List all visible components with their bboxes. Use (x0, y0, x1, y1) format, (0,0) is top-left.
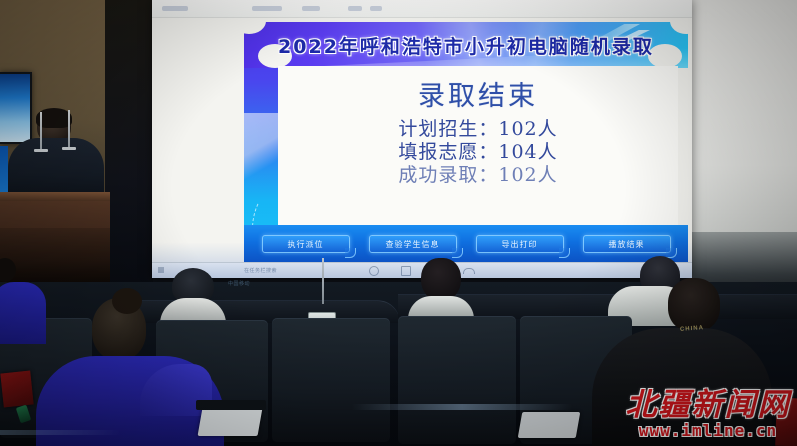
wall-dark-column (105, 0, 153, 300)
stat-value: 102人 (498, 118, 557, 140)
red-book (0, 371, 33, 408)
podium-shadow (0, 228, 110, 284)
slide-content-card: 录取结束 计划招生：102人 填报志愿：104人 成功录取：102人 (278, 66, 678, 226)
export-print-button[interactable]: 导出打印 (476, 235, 564, 253)
slide-heading: 录取结束 (278, 74, 678, 113)
slide-action-bar: 执行派位 查验学生信息 导出打印 播放结果 (244, 225, 688, 263)
table-edge-highlight (352, 404, 572, 410)
projection-screen: 2022年呼和浩特市小升初电脑随机录取 录取结束 计划招生：102人 填报志愿：… (152, 0, 692, 278)
screen-caption-text: 中国移动 (228, 280, 250, 287)
button-corner-tail (452, 248, 463, 258)
red-object-right (775, 398, 797, 446)
search-circle-icon[interactable] (369, 266, 379, 276)
stat-label: 填报志愿： (398, 141, 498, 163)
button-label: 执行派位 (288, 239, 324, 250)
app-toolbar (152, 0, 692, 18)
explorer-icon[interactable] (463, 268, 475, 274)
button-corner-tail (345, 248, 356, 258)
auxiliary-monitor (0, 72, 32, 144)
button-label: 导出打印 (502, 239, 538, 250)
laptop-screen (518, 412, 581, 438)
laptop-screen (198, 408, 263, 436)
stat-value: 104人 (498, 141, 557, 163)
stat-label: 成功录取： (398, 164, 498, 186)
play-results-button[interactable]: 播放结果 (583, 235, 671, 253)
stat-row: 计划招生：102人 (278, 118, 678, 141)
taskview-icon[interactable] (401, 266, 411, 276)
table-edge-highlight (0, 430, 120, 435)
chair-back (398, 316, 516, 444)
button-label: 查验学生信息 (386, 239, 440, 250)
speaker-body (8, 138, 104, 200)
execute-allocation-button[interactable]: 执行派位 (262, 235, 350, 253)
start-button-icon[interactable] (158, 267, 164, 273)
stat-row: 填报志愿：104人 (278, 141, 678, 164)
presentation-slide: 2022年呼和浩特市小升初电脑随机录取 录取结束 计划招生：102人 填报志愿：… (156, 18, 688, 263)
laptop-base (196, 400, 266, 410)
button-corner-tail (559, 248, 570, 258)
stat-row: 成功录取：102人 (278, 164, 678, 187)
chair-back (272, 318, 390, 442)
stat-label: 计划招生： (398, 118, 498, 140)
slide-title-band: 2022年呼和浩特市小升初电脑随机录取 (244, 22, 688, 68)
stat-value: 102人 (498, 164, 557, 186)
taskbar-search-label: 在任务栏搜索 (244, 267, 277, 274)
slide-banner-title: 2022年呼和浩特市小升初电脑随机录取 (244, 22, 688, 68)
table-gooseneck-mic (322, 258, 324, 304)
news-photo: 2022年呼和浩特市小升初电脑随机录取 录取结束 计划招生：102人 填报志愿：… (0, 0, 797, 446)
verify-student-info-button[interactable]: 查验学生信息 (369, 235, 457, 253)
podium-top-surface (0, 192, 110, 201)
slide-stats-list: 计划招生：102人 填报志愿：104人 成功录取：102人 (278, 118, 678, 187)
button-label: 播放结果 (609, 239, 645, 250)
